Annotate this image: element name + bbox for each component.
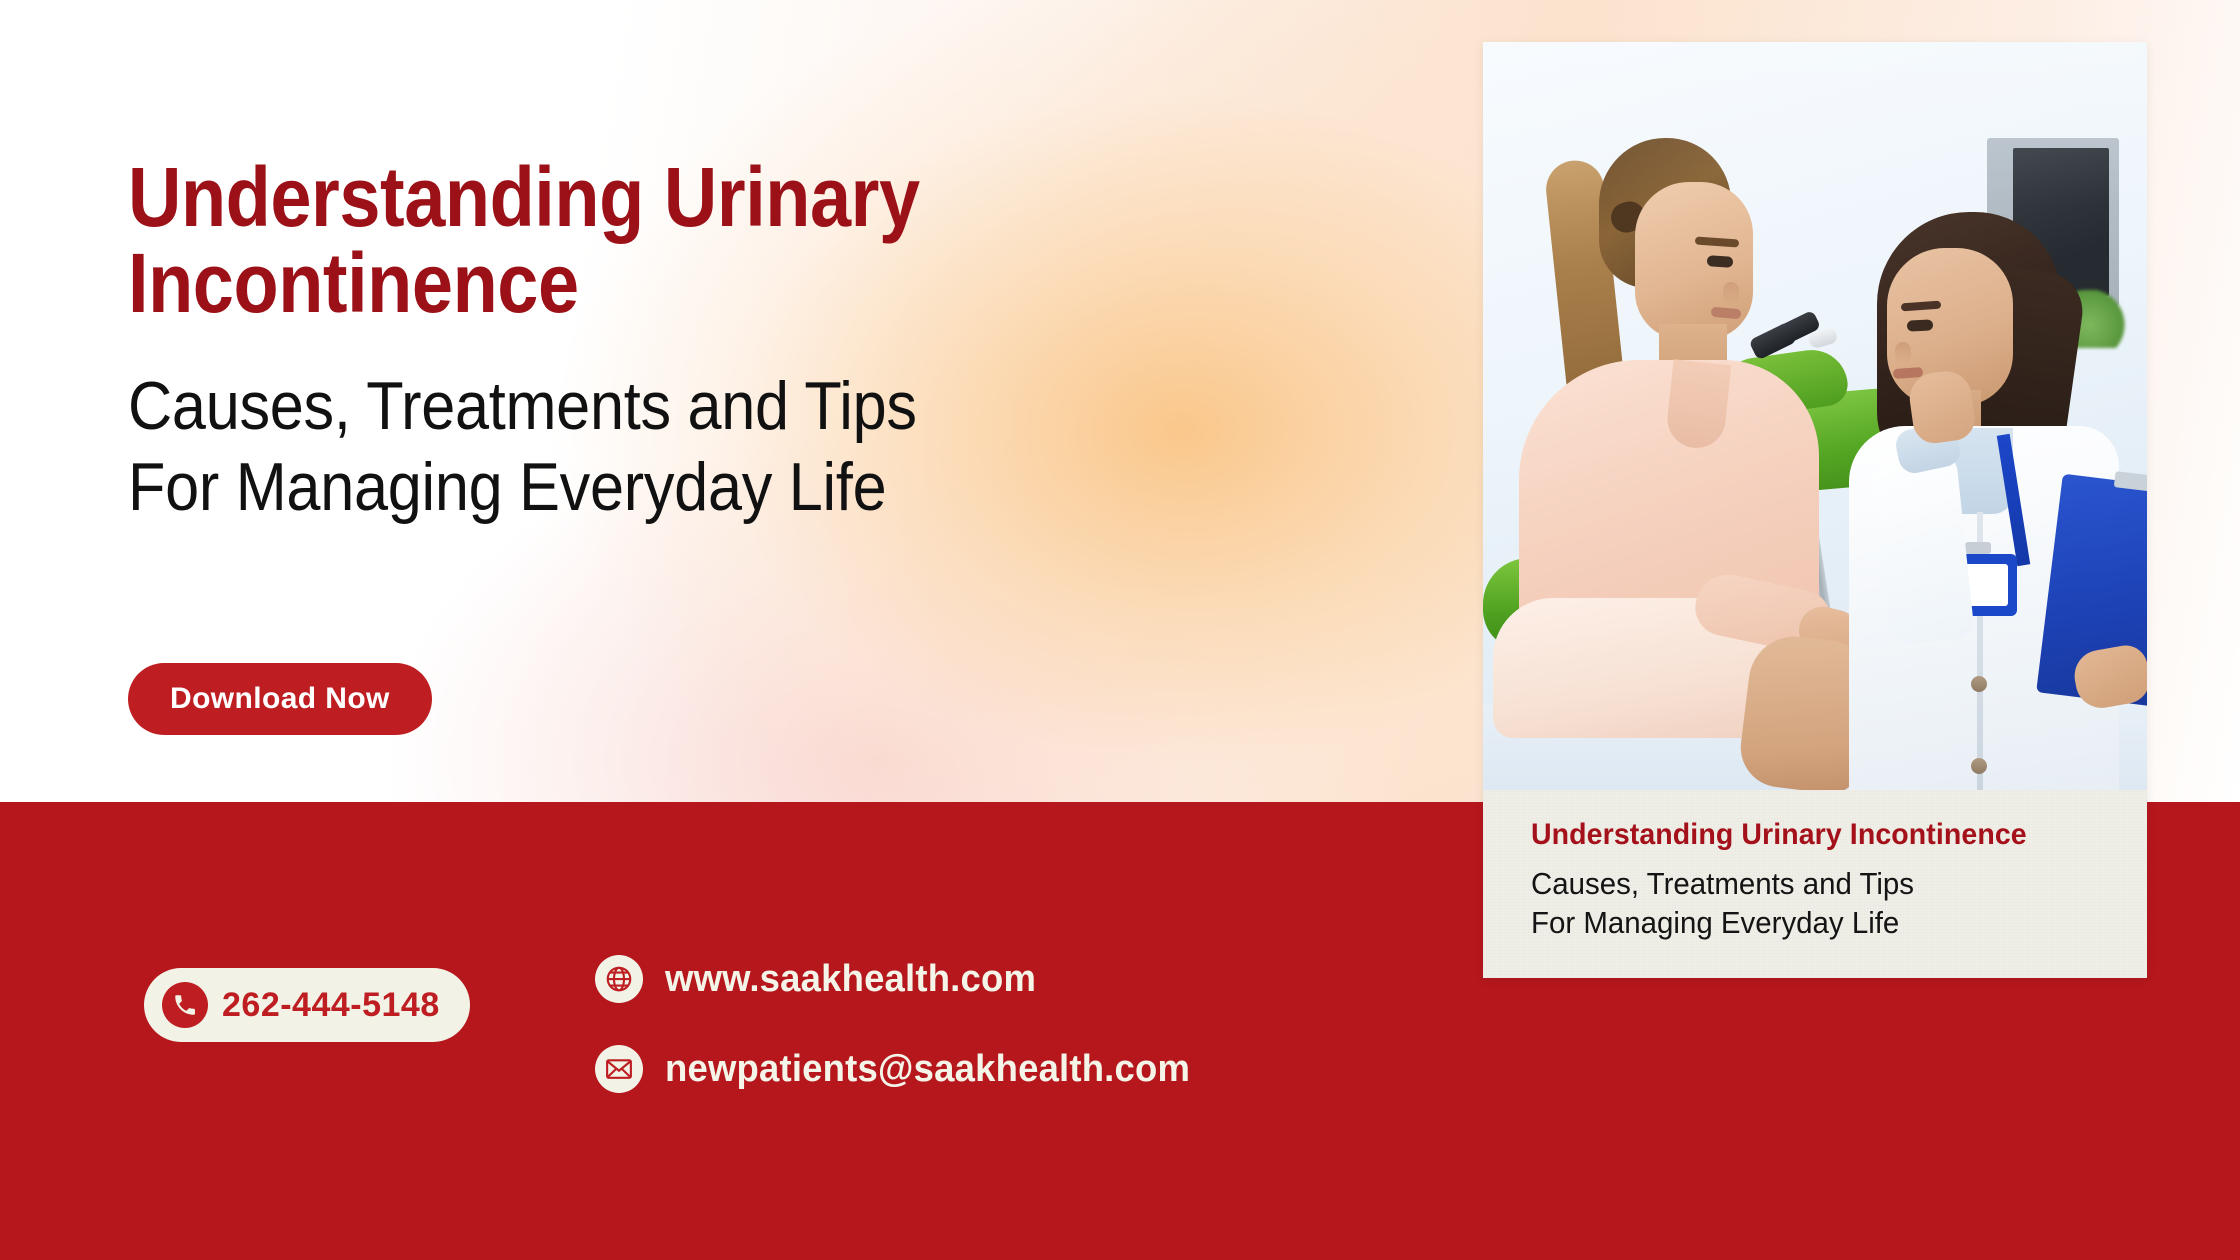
envelope-icon xyxy=(595,1045,643,1093)
patient-eye xyxy=(1707,255,1734,268)
card-caption-title: Understanding Urinary Incontinence xyxy=(1531,818,2092,852)
doctor-lips xyxy=(1893,367,1924,379)
badge-clip xyxy=(1965,542,1991,554)
website-text: www.saakhealth.com xyxy=(665,958,1036,1001)
patient-nose xyxy=(1723,282,1739,304)
hero-copy-block: Understanding Urinary Incontinence Cause… xyxy=(128,155,1428,527)
page-title: Understanding Urinary Incontinence xyxy=(128,155,1272,326)
doctor-consulting-patient-photo xyxy=(1483,42,2147,790)
email-row[interactable]: newpatients@saakhealth.com xyxy=(595,1045,1212,1093)
promo-banner: Understanding Urinary Incontinence Cause… xyxy=(0,0,2240,1260)
phone-pill[interactable]: 262-444-5148 xyxy=(144,968,470,1042)
exam-instrument xyxy=(1751,314,1837,360)
doctor-coat-button xyxy=(1971,676,1987,692)
doctor-nose xyxy=(1895,342,1911,364)
download-now-button[interactable]: Download Now xyxy=(128,663,432,735)
doctor-eye xyxy=(1907,319,1934,331)
phone-icon xyxy=(162,982,208,1028)
card-caption-panel: Understanding Urinary Incontinence Cause… xyxy=(1483,790,2147,978)
email-text: newpatients@saakhealth.com xyxy=(665,1048,1190,1091)
card-caption-subtitle: Causes, Treatments and Tips For Managing… xyxy=(1531,864,2092,942)
phone-number: 262-444-5148 xyxy=(222,986,440,1025)
doctor-coat-button xyxy=(1971,758,1987,774)
contact-list: www.saakhealth.com newpatients@saakhealt… xyxy=(595,955,1212,1093)
website-row[interactable]: www.saakhealth.com xyxy=(595,955,1212,1003)
ebook-cover-card: Understanding Urinary Incontinence Cause… xyxy=(1483,42,2147,978)
globe-icon xyxy=(595,955,643,1003)
hero-subtitle: Causes, Treatments and Tips For Managing… xyxy=(128,366,1298,526)
